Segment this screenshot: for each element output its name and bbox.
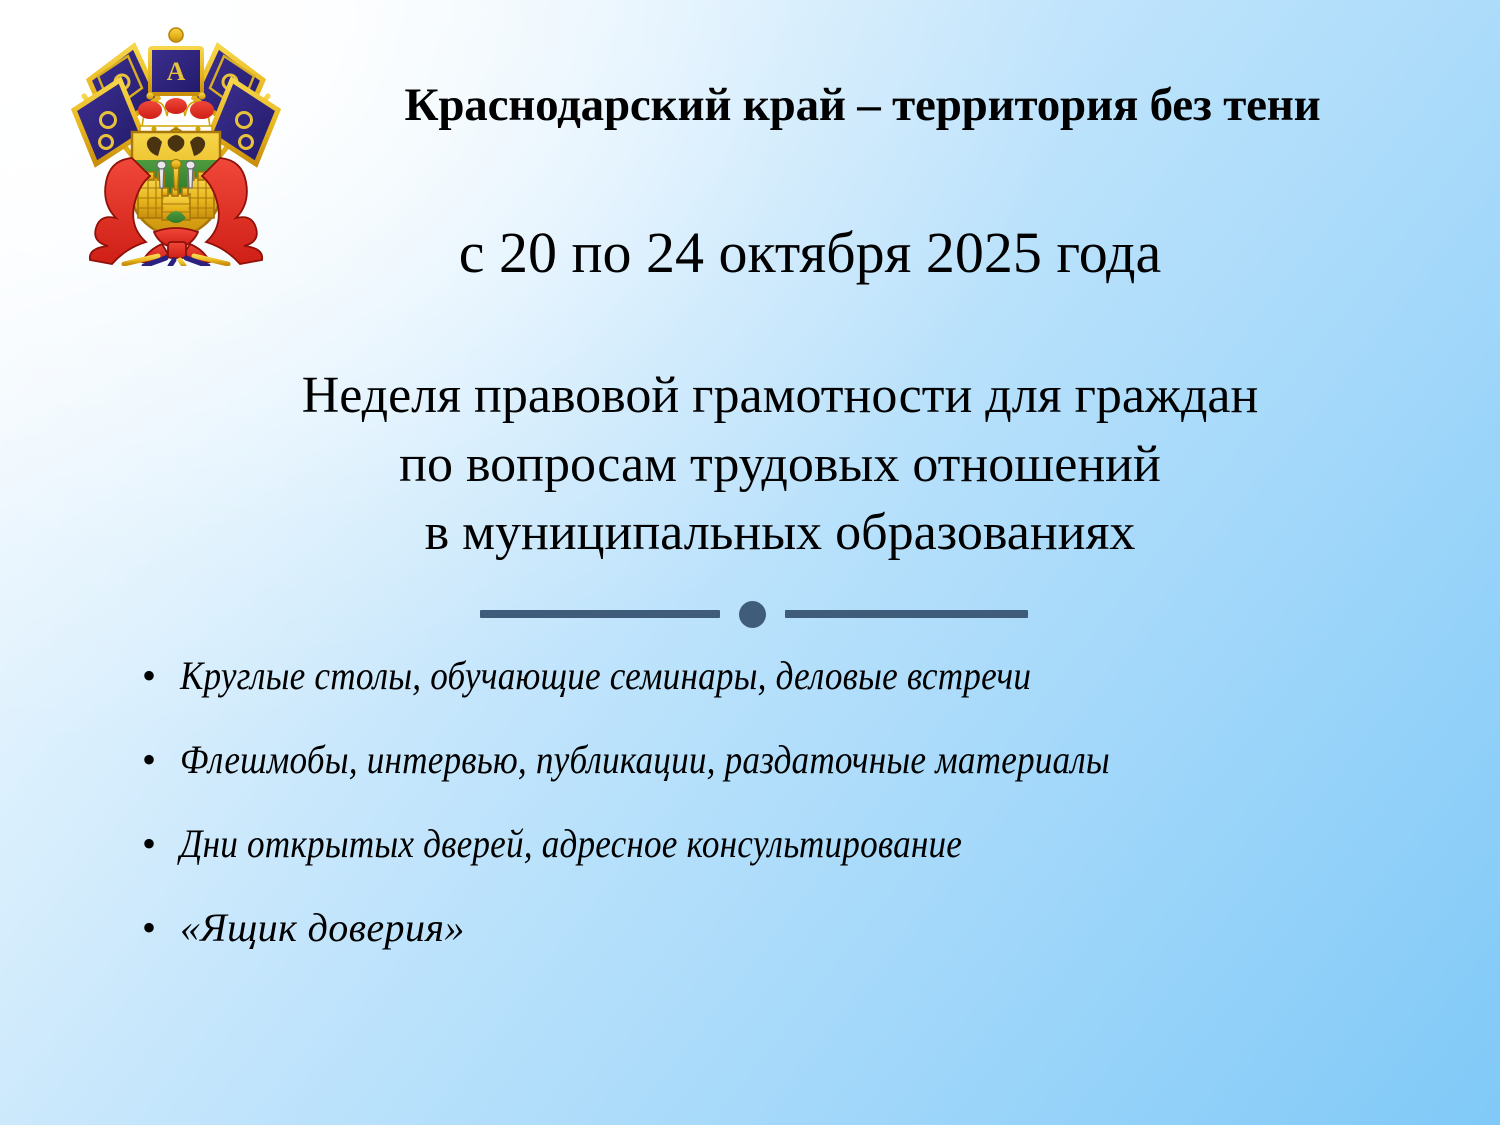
bullet-dot-icon: •	[128, 908, 180, 948]
bullet-dot-icon: •	[128, 740, 180, 780]
list-item-label: Круглые столы, обучающие семинары, делов…	[180, 655, 1031, 697]
activities-list: • Круглые столы, обучающие семинары, дел…	[128, 655, 1468, 991]
list-item-label: Дни открытых дверей, адресное консультир…	[180, 823, 962, 865]
list-item-label: «Ящик доверия»	[180, 907, 465, 949]
bullet-dot-icon: •	[128, 824, 180, 864]
event-heading-line-2: по вопросам трудовых отношений	[120, 431, 1440, 500]
list-item: • Круглые столы, обучающие семинары, дел…	[128, 655, 1468, 739]
event-heading-line-3: в муниципальных образованиях	[120, 499, 1440, 568]
event-heading-line-1: Неделя правовой грамотности для граждан	[120, 362, 1440, 431]
list-item-label: Флешмобы, интервью, публикации, раздаточ…	[180, 739, 1110, 781]
list-item: • Флешмобы, интервью, публикации, раздат…	[128, 739, 1468, 823]
divider-ornament	[480, 598, 1028, 630]
divider-bar-right	[785, 610, 1028, 618]
event-date-range: с 20 по 24 октября 2025 года	[150, 221, 1470, 285]
list-item: • «Ящик доверия»	[128, 907, 1468, 991]
event-heading: Неделя правовой грамотности для граждан …	[120, 362, 1440, 568]
divider-bar-left	[480, 610, 720, 618]
bullet-dot-icon: •	[128, 656, 180, 696]
slide-canvas: A	[0, 0, 1500, 1125]
svg-text:A: A	[167, 57, 186, 86]
divider-dot-icon	[739, 601, 766, 628]
page-title: Краснодарский край – территория без тени	[300, 79, 1425, 132]
list-item: • Дни открытых дверей, адресное консульт…	[128, 823, 1468, 907]
